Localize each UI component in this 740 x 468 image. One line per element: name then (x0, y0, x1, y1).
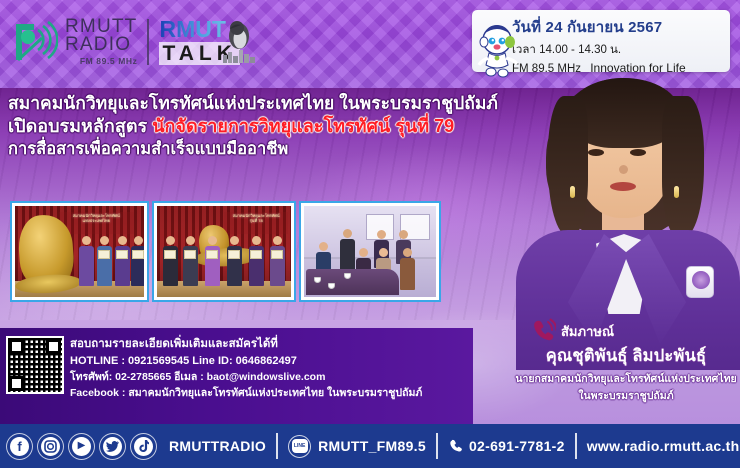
poster-canvas: RMUTT RADIO FM 89.5 MHz RMUT TALK (0, 0, 740, 468)
headline-line-2-prefix: เปิดอบรมหลักสูตร (8, 116, 152, 136)
guest-name: คุณชุติพันธุ์ ลิมปะพันธุ์ (512, 343, 740, 369)
bottom-separator-2 (436, 433, 438, 459)
photo-gallery: สมาคมนักวิทยุและโทรทัศน์แห่งประเทศไทย สม… (12, 203, 439, 300)
twitter-glyph (103, 437, 122, 456)
guest-block: สัมภาษณ์ คุณชุติพันธุ์ ลิมปะพันธุ์ นายกส… (512, 318, 740, 404)
photo-2-banner: สมาคมนักวิทยุและโทรทัศน์รุ่นที่ 78 (224, 212, 288, 234)
youtube-glyph: ▶ (72, 437, 91, 456)
contact-heading: สอบถามรายละเอียดเพิ่มเติมและสมัครได้ที่ (70, 336, 422, 353)
qr-code[interactable] (6, 336, 64, 394)
radio-logo-frequency: FM 89.5 MHz (65, 57, 137, 65)
tiktok-glyph (134, 437, 153, 456)
phone-icon (448, 439, 463, 454)
contact-facebook: Facebook : สมาคมนักวิทยุและโทรทัศน์แห่งป… (70, 386, 422, 402)
rmut-talk-logo[interactable]: RMUT TALK (159, 18, 239, 65)
penguin-icon (226, 20, 252, 50)
website-url[interactable]: www.radio.rmutt.ac.th (587, 438, 740, 454)
phone-ring-icon (530, 318, 556, 344)
headline-line-1: สมาคมนักวิทยุและโทรทัศน์แห่งประเทศไทย ใน… (8, 92, 528, 115)
contact-panel: สอบถามรายละเอียดเพิ่มเติมและสมัครได้ที่ … (0, 328, 473, 424)
facebook-glyph: f (10, 437, 29, 456)
institution-badge (686, 266, 714, 298)
headline-block: สมาคมนักวิทยุและโทรทัศน์แห่งประเทศไทย ใน… (8, 92, 528, 161)
instagram-glyph (41, 437, 60, 456)
broadcast-info-box: วันที่ 24 กันยายน 2567 เวลา 14.00 - 14.3… (472, 10, 730, 72)
broadcast-date: วันที่ 24 กันยายน 2567 (512, 15, 724, 39)
rmutt-radio-wordmark: RMUTT RADIO FM 89.5 MHz (65, 18, 137, 64)
radio-logo-line2: RADIO (65, 36, 137, 54)
contact-lines: สอบถามรายละเอียดเพิ่มเติมและสมัครได้ที่ … (70, 336, 422, 402)
cityscape-icon (222, 49, 256, 63)
photo-1-banner: สมาคมนักวิทยุและโทรทัศน์แห่งประเทศไทย (59, 212, 134, 234)
tiktok-icon[interactable] (130, 433, 157, 460)
social-handle[interactable]: RMUTTRADIO (169, 438, 266, 454)
guest-role-line-2: ในพระบรมราชูปถัมภ์ (512, 387, 740, 404)
line-glyph: LINE (292, 439, 308, 453)
bottom-separator-1 (276, 433, 278, 459)
phone-number[interactable]: 02-691-7781-2 (469, 438, 565, 454)
guest-role-line-1: นายกสมาคมนักวิทยุและโทรทัศน์แห่งประเทศไท… (512, 370, 740, 387)
broadcast-time: เวลา 14.00 - 14.30 น. (512, 41, 724, 59)
facebook-icon[interactable]: f (6, 433, 33, 460)
group-award-photo[interactable]: สมาคมนักวิทยุและโทรทัศน์รุ่นที่ 78 (154, 203, 294, 300)
logo-zone: RMUTT RADIO FM 89.5 MHz RMUT TALK (12, 18, 240, 65)
youtube-icon[interactable]: ▶ (68, 433, 95, 460)
logo-divider (147, 19, 149, 65)
headline-line-2: เปิดอบรมหลักสูตร นักจัดรายการวิทยุและโทร… (8, 115, 528, 139)
rmutt-radio-logo[interactable]: RMUTT RADIO FM 89.5 MHz (12, 18, 137, 64)
social-icons: f ▶ (6, 433, 157, 460)
twitter-icon[interactable] (99, 433, 126, 460)
instagram-icon[interactable] (37, 433, 64, 460)
meeting-table-photo[interactable] (301, 203, 439, 300)
radio-wave-icon (12, 20, 58, 64)
guest-label-row: สัมภาษณ์ (512, 318, 740, 344)
bottom-bar: f ▶ RMUTTRADIO (0, 424, 740, 468)
guest-label: สัมภาษณ์ (561, 321, 614, 342)
bottom-separator-3 (575, 433, 577, 459)
contact-hotline: HOTLINE : 0921569545 Line ID: 0646862497 (70, 353, 422, 370)
headline-line-2-highlight: นักจัดรายการวิทยุและโทรทัศน์ รุ่นที่ 79 (152, 116, 454, 136)
line-icon[interactable]: LINE (288, 435, 311, 458)
line-handle[interactable]: RMUTT_FM89.5 (318, 438, 426, 454)
contact-phone-email: โทรศัพท์: 02-2785665 อีเมล : baot@window… (70, 370, 422, 386)
headline-line-3: การสื่อสารเพื่อความสำเร็จแบบมืออาชีพ (8, 139, 528, 161)
award-ceremony-photo[interactable]: สมาคมนักวิทยุและโทรทัศน์แห่งประเทศไทย (12, 203, 147, 300)
